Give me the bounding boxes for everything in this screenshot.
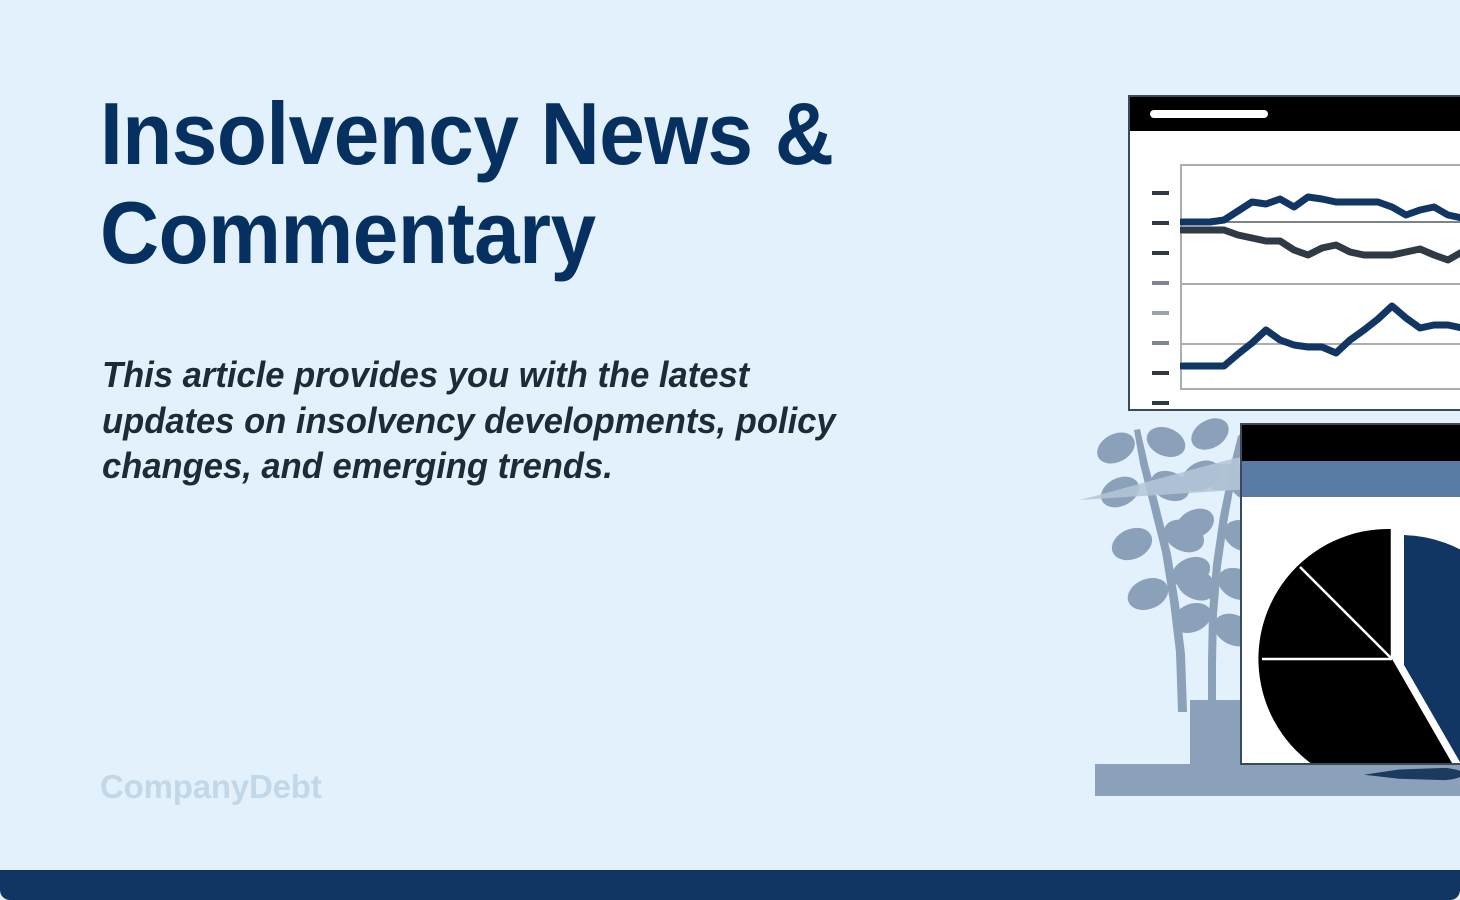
dashboard-illustration — [1040, 60, 1460, 860]
y-axis-tick — [1152, 191, 1169, 195]
page-title: Insolvency News & Commentary — [100, 84, 937, 283]
y-axis-tick — [1152, 341, 1169, 345]
titlebar-placeholder-bar — [1150, 110, 1268, 118]
line-series-navy-upper — [1182, 197, 1460, 222]
line-chart-plot — [1180, 164, 1460, 390]
line-series-navy-lower — [1182, 306, 1460, 366]
hero-banner: Insolvency News & Commentary This articl… — [0, 0, 1460, 900]
desk-surface — [1095, 764, 1460, 796]
y-axis-tick — [1152, 371, 1169, 375]
y-axis-tick — [1152, 251, 1169, 255]
y-axis-tick — [1152, 221, 1169, 225]
pie-chart-titlebar — [1242, 425, 1460, 461]
pie-chart-plot — [1242, 481, 1460, 763]
pie-chart-window — [1240, 423, 1460, 765]
line-chart-titlebar — [1130, 97, 1460, 131]
bottom-accent-bar — [0, 870, 1460, 900]
brand-logo-text: CompanyDebt — [100, 768, 322, 806]
y-axis-tick — [1152, 281, 1169, 285]
y-axis-tick — [1152, 401, 1169, 405]
line-series-charcoal — [1182, 230, 1460, 260]
line-chart-window — [1128, 95, 1460, 411]
page-subtitle: This article provides you with the lates… — [102, 352, 860, 489]
y-axis-tick — [1152, 311, 1169, 315]
